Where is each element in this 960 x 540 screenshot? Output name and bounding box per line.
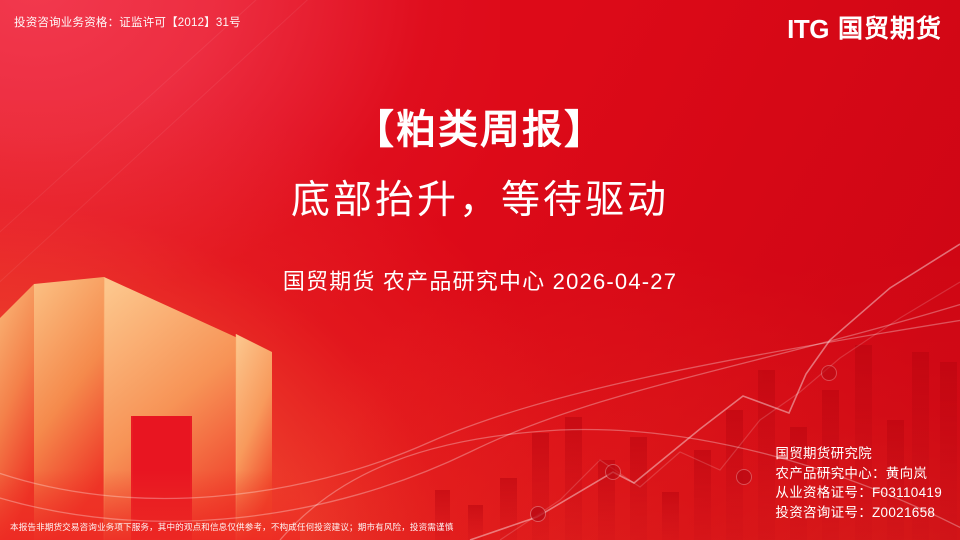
contact-institute: 国贸期货研究院 (775, 444, 942, 464)
contact-practice-license: 从业资格证号：F03110419 (775, 483, 942, 503)
cover-byline: 国贸期货 农产品研究中心 2026-04-27 (0, 264, 960, 296)
contact-analyst: 农产品研究中心：黄向岚 (775, 464, 942, 484)
cover-title-block: 【粕类周报】 底部抬升，等待驱动 国贸期货 农产品研究中心 2026-04-27 (0, 106, 960, 296)
page-title: 【粕类周报】 (0, 106, 960, 155)
analyst-contact-block: 国贸期货研究院 农产品研究中心：黄向岚 从业资格证号：F03110419 投资咨… (775, 444, 942, 522)
logo-mark-text: ITG (787, 16, 829, 42)
report-cover-slide: 投资咨询业务资格：证监许可【2012】31号 ITG 国贸期货 【粕类周报】 底… (0, 0, 960, 540)
contact-consulting-license: 投资咨询证号：Z0021658 (775, 503, 942, 523)
footer-disclaimer: 本报告非期货交易咨询业务项下服务，其中的观点和信息仅供参考，不构成任何投资建议；… (10, 521, 453, 533)
itg-logo-icon: ITG 国贸期货 (787, 16, 942, 42)
logo-company-name: 国贸期货 (838, 17, 942, 42)
qualification-statement: 投资咨询业务资格：证监许可【2012】31号 (14, 16, 241, 31)
page-subtitle: 底部抬升，等待驱动 (0, 177, 960, 225)
